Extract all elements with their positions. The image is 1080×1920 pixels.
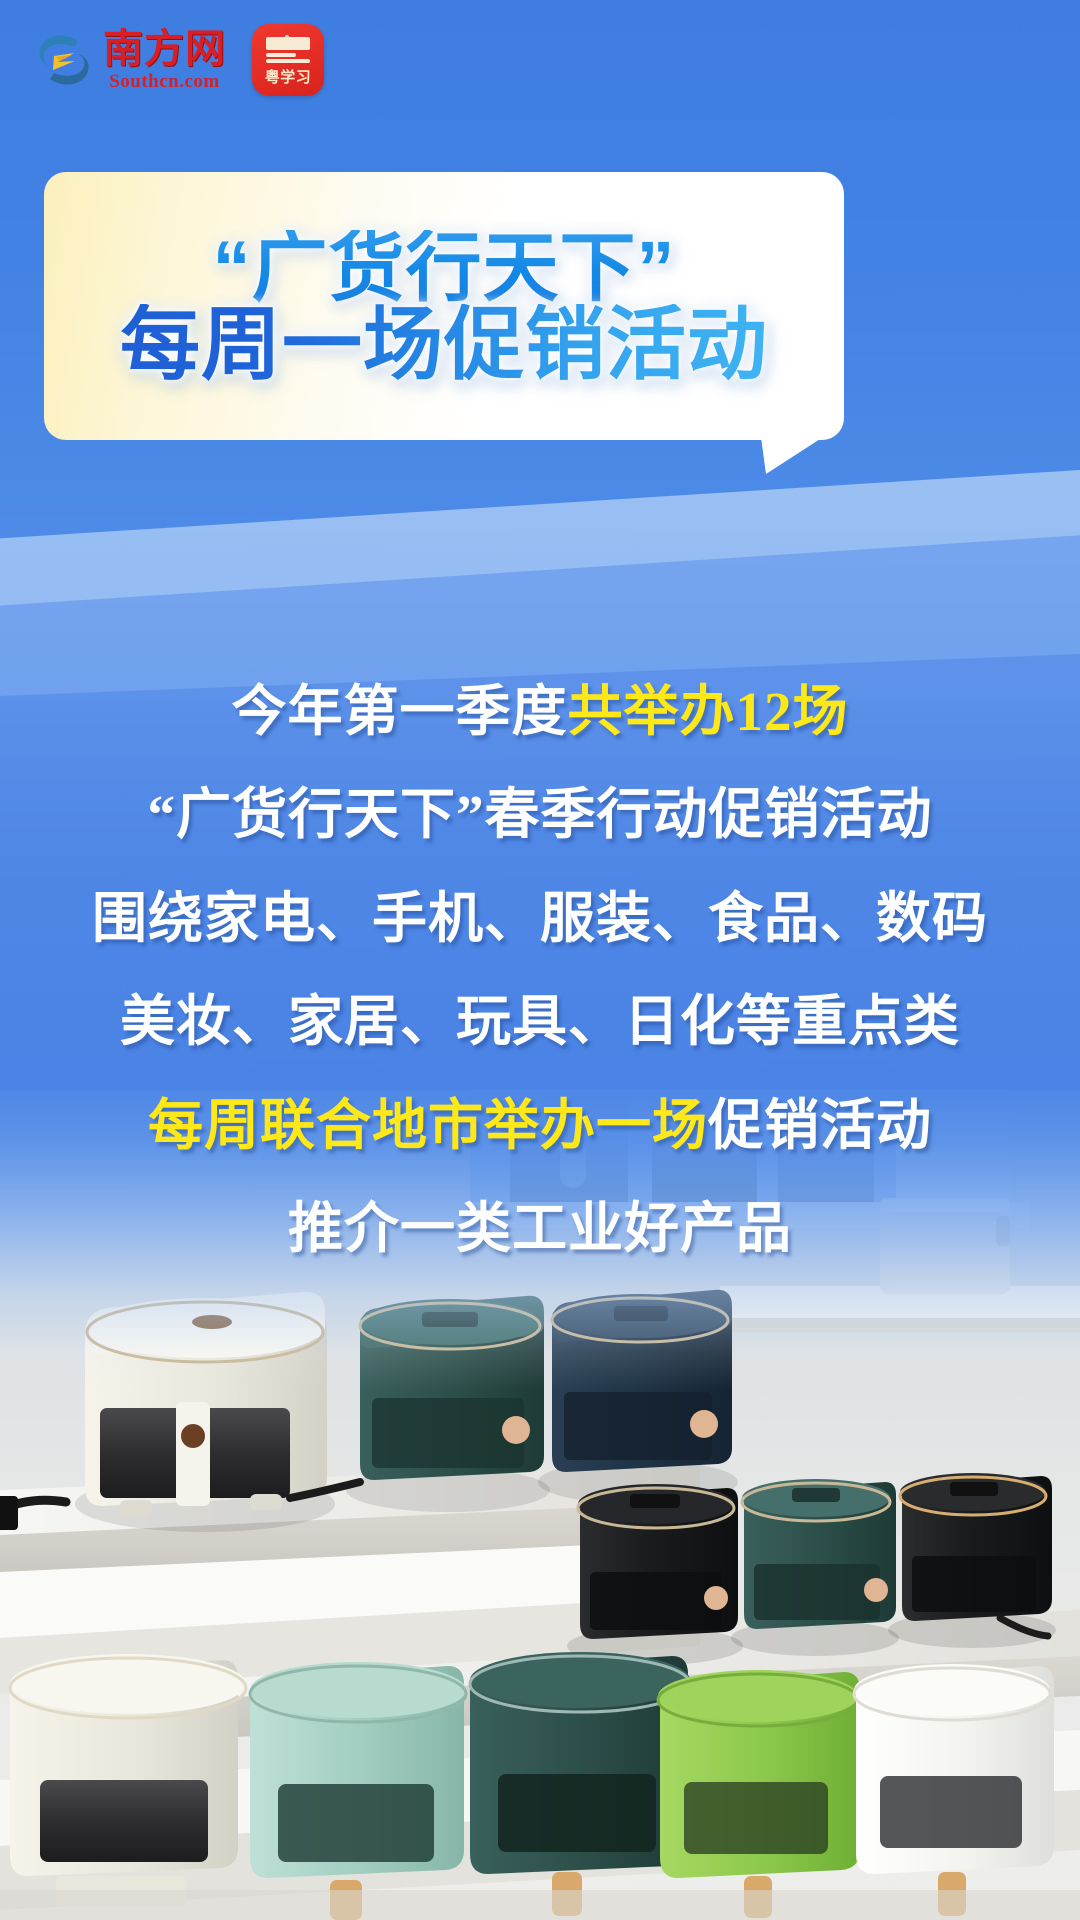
- body-text-segment: 促销活动: [708, 1095, 932, 1156]
- body-text-line: 每周联合地市举办一场促销活动: [148, 1074, 932, 1177]
- body-text-segment: “广货行天下”春季行动促销活动: [147, 784, 932, 845]
- body-text-segment: 今年第一季度: [231, 681, 567, 742]
- title-line-1: “广货行天下”: [207, 230, 682, 308]
- body-text-segment: 围绕家电、手机、服装、食品、数码: [92, 888, 988, 949]
- southcn-swoosh-icon: [34, 29, 94, 91]
- southcn-logo-en: Southcn.com: [109, 72, 220, 91]
- yue-xuexi-app-icon[interactable]: 粤学习: [252, 24, 324, 96]
- body-text-line: 围绕家电、手机、服装、食品、数码: [92, 867, 988, 970]
- body-text-segment: 推介一类工业好产品: [288, 1198, 792, 1259]
- title-line-2: 每周一场促销活动: [114, 304, 774, 386]
- title-card: “广货行天下” 每周一场促销活动: [44, 172, 844, 440]
- body-text-highlight: 共举办12场: [568, 681, 849, 742]
- southcn-logo-text: 南方网 Southcn.com: [103, 29, 226, 91]
- book-icon: [264, 35, 312, 65]
- body-text-segment: 美妆、家居、玩具、日化等重点类: [120, 991, 960, 1052]
- southcn-logo[interactable]: 南方网 Southcn.com: [34, 29, 226, 91]
- southcn-logo-cn: 南方网: [103, 29, 226, 69]
- body-text-line: 今年第一季度共举办12场: [231, 660, 848, 763]
- body-text-line: “广货行天下”春季行动促销活动: [147, 763, 932, 866]
- body-text-line: 美妆、家居、玩具、日化等重点类: [120, 970, 960, 1073]
- body-text-line: 推介一类工业好产品: [288, 1177, 792, 1280]
- yue-xuexi-label: 粤学习: [252, 66, 324, 87]
- body-text-block: 今年第一季度共举办12场“广货行天下”春季行动促销活动围绕家电、手机、服装、食品…: [0, 660, 1080, 1280]
- body-text-highlight: 每周联合地市举办一场: [148, 1095, 708, 1156]
- header-logos: 南方网 Southcn.com 粤学习: [0, 0, 1080, 120]
